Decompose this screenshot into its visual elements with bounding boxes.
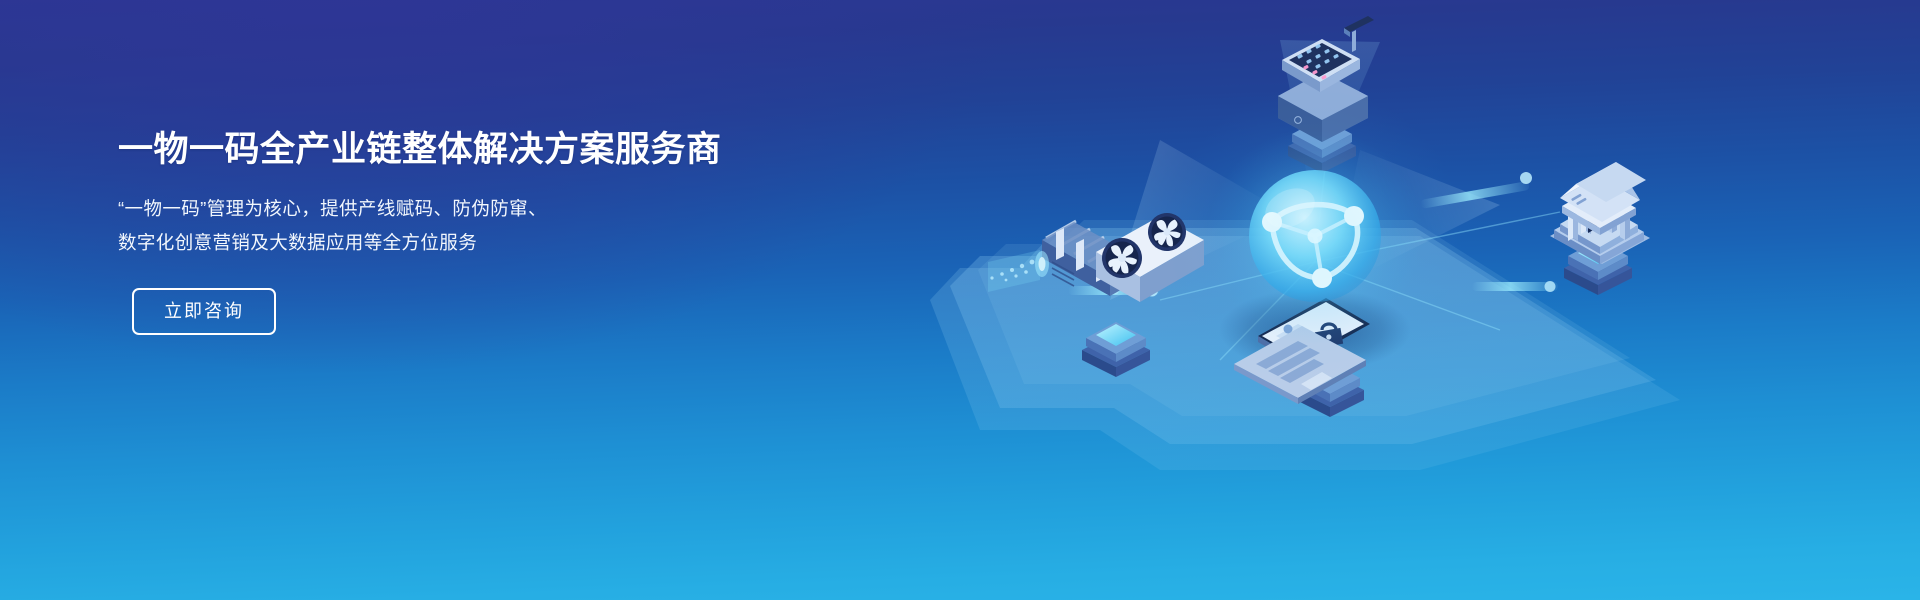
- consult-now-button[interactable]: 立即咨询: [132, 288, 276, 335]
- hero-banner: 一物一码全产业链整体解决方案服务商 “一物一码”管理为核心，提供产线赋码、防伪防…: [0, 0, 1920, 600]
- hero-text-block: 一物一码全产业链整体解决方案服务商 “一物一码”管理为核心，提供产线赋码、防伪防…: [118, 128, 758, 335]
- page-title: 一物一码全产业链整体解决方案服务商: [118, 128, 758, 172]
- data-beam-bottom-right: [1472, 281, 1558, 292]
- hero-subtitle-line-1: “一物一码”管理为核心，提供产线赋码、防伪防窜、: [118, 192, 758, 226]
- hero-subtitle-line-2: 数字化创意营销及大数据应用等全方位服务: [118, 226, 758, 260]
- hero-subtitle: “一物一码”管理为核心，提供产线赋码、防伪防窜、 数字化创意营销及大数据应用等全…: [118, 192, 758, 260]
- bank-building: [1550, 162, 1650, 264]
- hero-illustration: [860, 0, 1920, 600]
